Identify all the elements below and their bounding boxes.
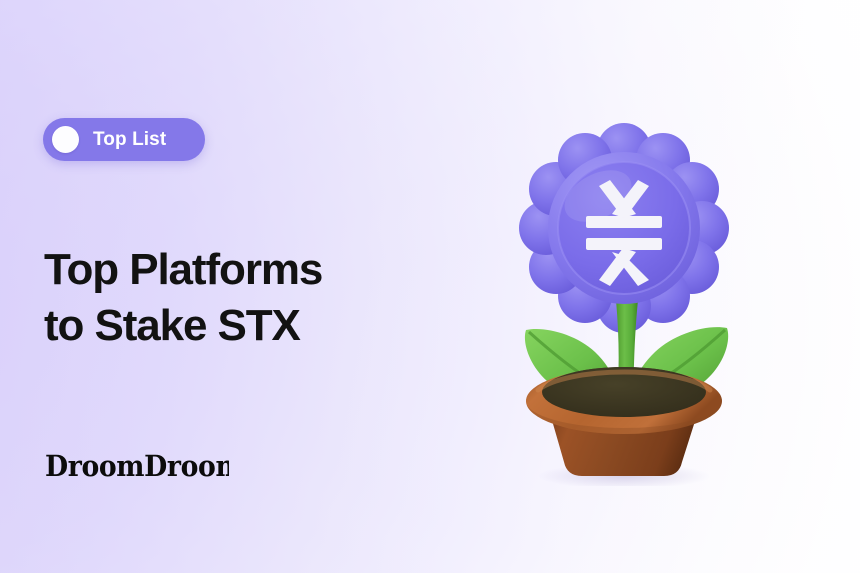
- brand-logo: DroomDroom: [45, 450, 229, 484]
- brand-wordmark-text: DroomDroom: [45, 450, 229, 483]
- page-title: Top Platforms to Stake STX: [44, 242, 322, 355]
- droomdroom-wordmark-icon: DroomDroom: [45, 450, 229, 484]
- left-content-column: Top List Top Platforms to Stake STX Droo…: [43, 0, 473, 573]
- top-list-badge[interactable]: Top List: [43, 118, 205, 161]
- stx-coin: [548, 152, 700, 304]
- banner-canvas: Top List Top Platforms to Stake STX Droo…: [0, 0, 860, 573]
- stx-flower-svg: [498, 104, 750, 486]
- stx-flower-illustration: [498, 104, 750, 486]
- badge-label: Top List: [93, 129, 166, 151]
- filled-circle-icon: [52, 126, 79, 153]
